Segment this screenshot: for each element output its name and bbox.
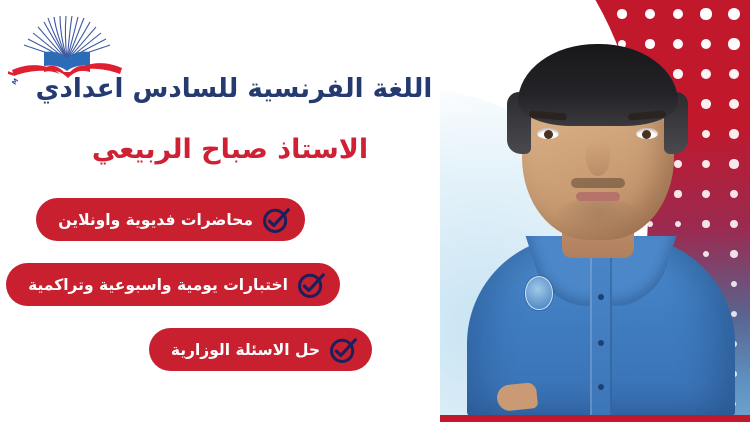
portrait-placket (590, 248, 612, 418)
portrait-chin-shadow (553, 198, 643, 242)
bottom-accent-bar (440, 415, 750, 422)
feature-list: محاضرات فديوية واونلاين اختبارات يومية و… (0, 198, 440, 393)
portrait-nose (586, 140, 610, 176)
portrait-pupil-right (642, 130, 651, 139)
portrait-button (598, 384, 604, 390)
portrait-pupil-left (544, 130, 553, 139)
feature-pill-exams[interactable]: اختبارات يومية واسبوعية وتراكمية (6, 263, 340, 306)
feature-label: اختبارات يومية واسبوعية وتراكمية (28, 276, 288, 294)
feature-label: محاضرات فديوية واونلاين (58, 211, 253, 229)
portrait-mouth (576, 192, 620, 201)
logo-line1: FUTURE STUDENT (8, 12, 20, 80)
portrait-moustache (571, 178, 625, 188)
portrait-button (598, 340, 604, 346)
check-circle-icon (328, 335, 358, 365)
svg-text:FUTURE STUDENT: FUTURE STUDENT (8, 12, 20, 80)
feature-label: حل الاسئلة الوزارية (171, 341, 320, 359)
portrait-button (598, 294, 604, 300)
instructor-portrait (445, 0, 750, 422)
portrait-shirt-crest (525, 276, 553, 310)
portrait-hand (496, 382, 538, 412)
course-promo-banner: FUTURE STUDENT EDUCATIONAL PLATFORM اللغ… (0, 0, 750, 422)
check-circle-icon (296, 270, 326, 300)
check-circle-icon (261, 205, 291, 235)
instructor-name: الاستاذ صباح الربيعي (0, 134, 460, 165)
feature-pill-ministry-questions[interactable]: حل الاسئلة الوزارية (149, 328, 372, 371)
page-title: اللغة الفرنسية للسادس اعدادي (0, 74, 468, 104)
feature-pill-video-lectures[interactable]: محاضرات فديوية واونلاين (36, 198, 305, 241)
